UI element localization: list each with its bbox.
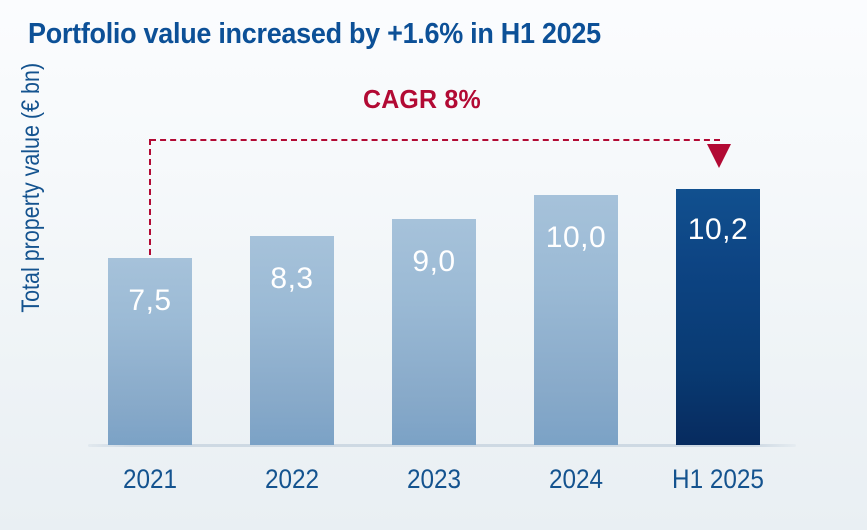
cagr-horizontal-connector: [150, 139, 720, 141]
bar-value-2021: 7,5: [108, 284, 192, 318]
x-tick-2022: 2022: [254, 464, 330, 495]
bar-2022[interactable]: 8,3: [250, 236, 334, 445]
bar-value-2024: 10,0: [534, 221, 618, 255]
x-tick-2024: 2024: [538, 464, 614, 495]
plot-area: 7,5 8,3 9,0 10,0 10,2 2021 2022 2023 202…: [0, 0, 867, 530]
bar-h1-2025[interactable]: 10,2: [676, 189, 760, 445]
x-tick-2023: 2023: [396, 464, 472, 495]
bar-2021[interactable]: 7,5: [108, 258, 192, 445]
bar-2024[interactable]: 10,0: [534, 195, 618, 445]
bar-2023[interactable]: 9,0: [392, 219, 476, 445]
cagr-arrowhead-icon: [707, 144, 731, 168]
bar-value-2022: 8,3: [250, 262, 334, 296]
cagr-vertical-connector: [149, 139, 151, 255]
chart-slide: Portfolio value increased by +1.6% in H1…: [0, 0, 867, 530]
cagr-label: CAGR 8%: [363, 84, 481, 115]
x-tick-2021: 2021: [112, 464, 188, 495]
x-tick-h1-2025: H1 2025: [671, 464, 765, 495]
bar-value-2023: 9,0: [392, 245, 476, 279]
bar-value-h1-2025: 10,2: [676, 213, 760, 247]
